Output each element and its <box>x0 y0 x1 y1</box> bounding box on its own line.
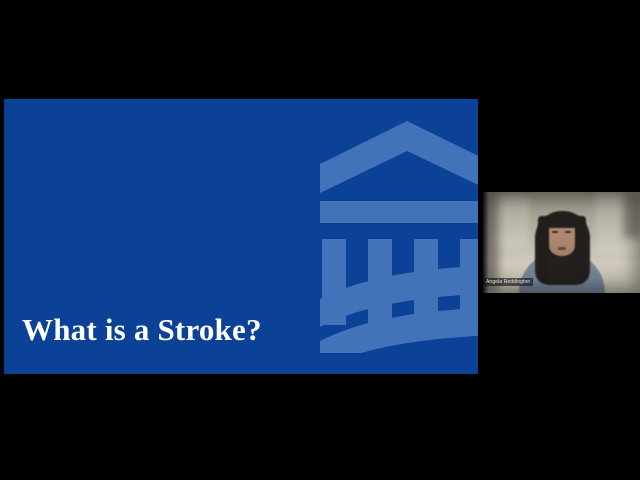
pediment-shape <box>320 121 478 193</box>
speaker-hair-strand <box>575 216 586 282</box>
university-building-logo <box>320 121 478 353</box>
speaker-video-tile[interactable]: Angela Reddington <box>483 192 640 293</box>
speaker-mouth <box>558 247 566 250</box>
speaker-hair-strand <box>538 216 549 282</box>
slide-title: What is a Stroke? <box>22 312 322 348</box>
participant-name-plate: Angela Reddington <box>484 278 533 286</box>
speaker-hair-fringe <box>546 213 578 228</box>
building-logo-svg <box>320 121 478 353</box>
speaker-eye <box>565 231 571 233</box>
presentation-slide: What is a Stroke? <box>4 99 478 374</box>
speaker-eye <box>552 231 558 233</box>
lintel-bar <box>320 201 478 223</box>
background-shadow <box>623 192 640 238</box>
screen-capture-frame: What is a Stroke? Angela Reddington <box>0 0 640 480</box>
participant-name-label: Angela Reddington <box>486 279 530 285</box>
